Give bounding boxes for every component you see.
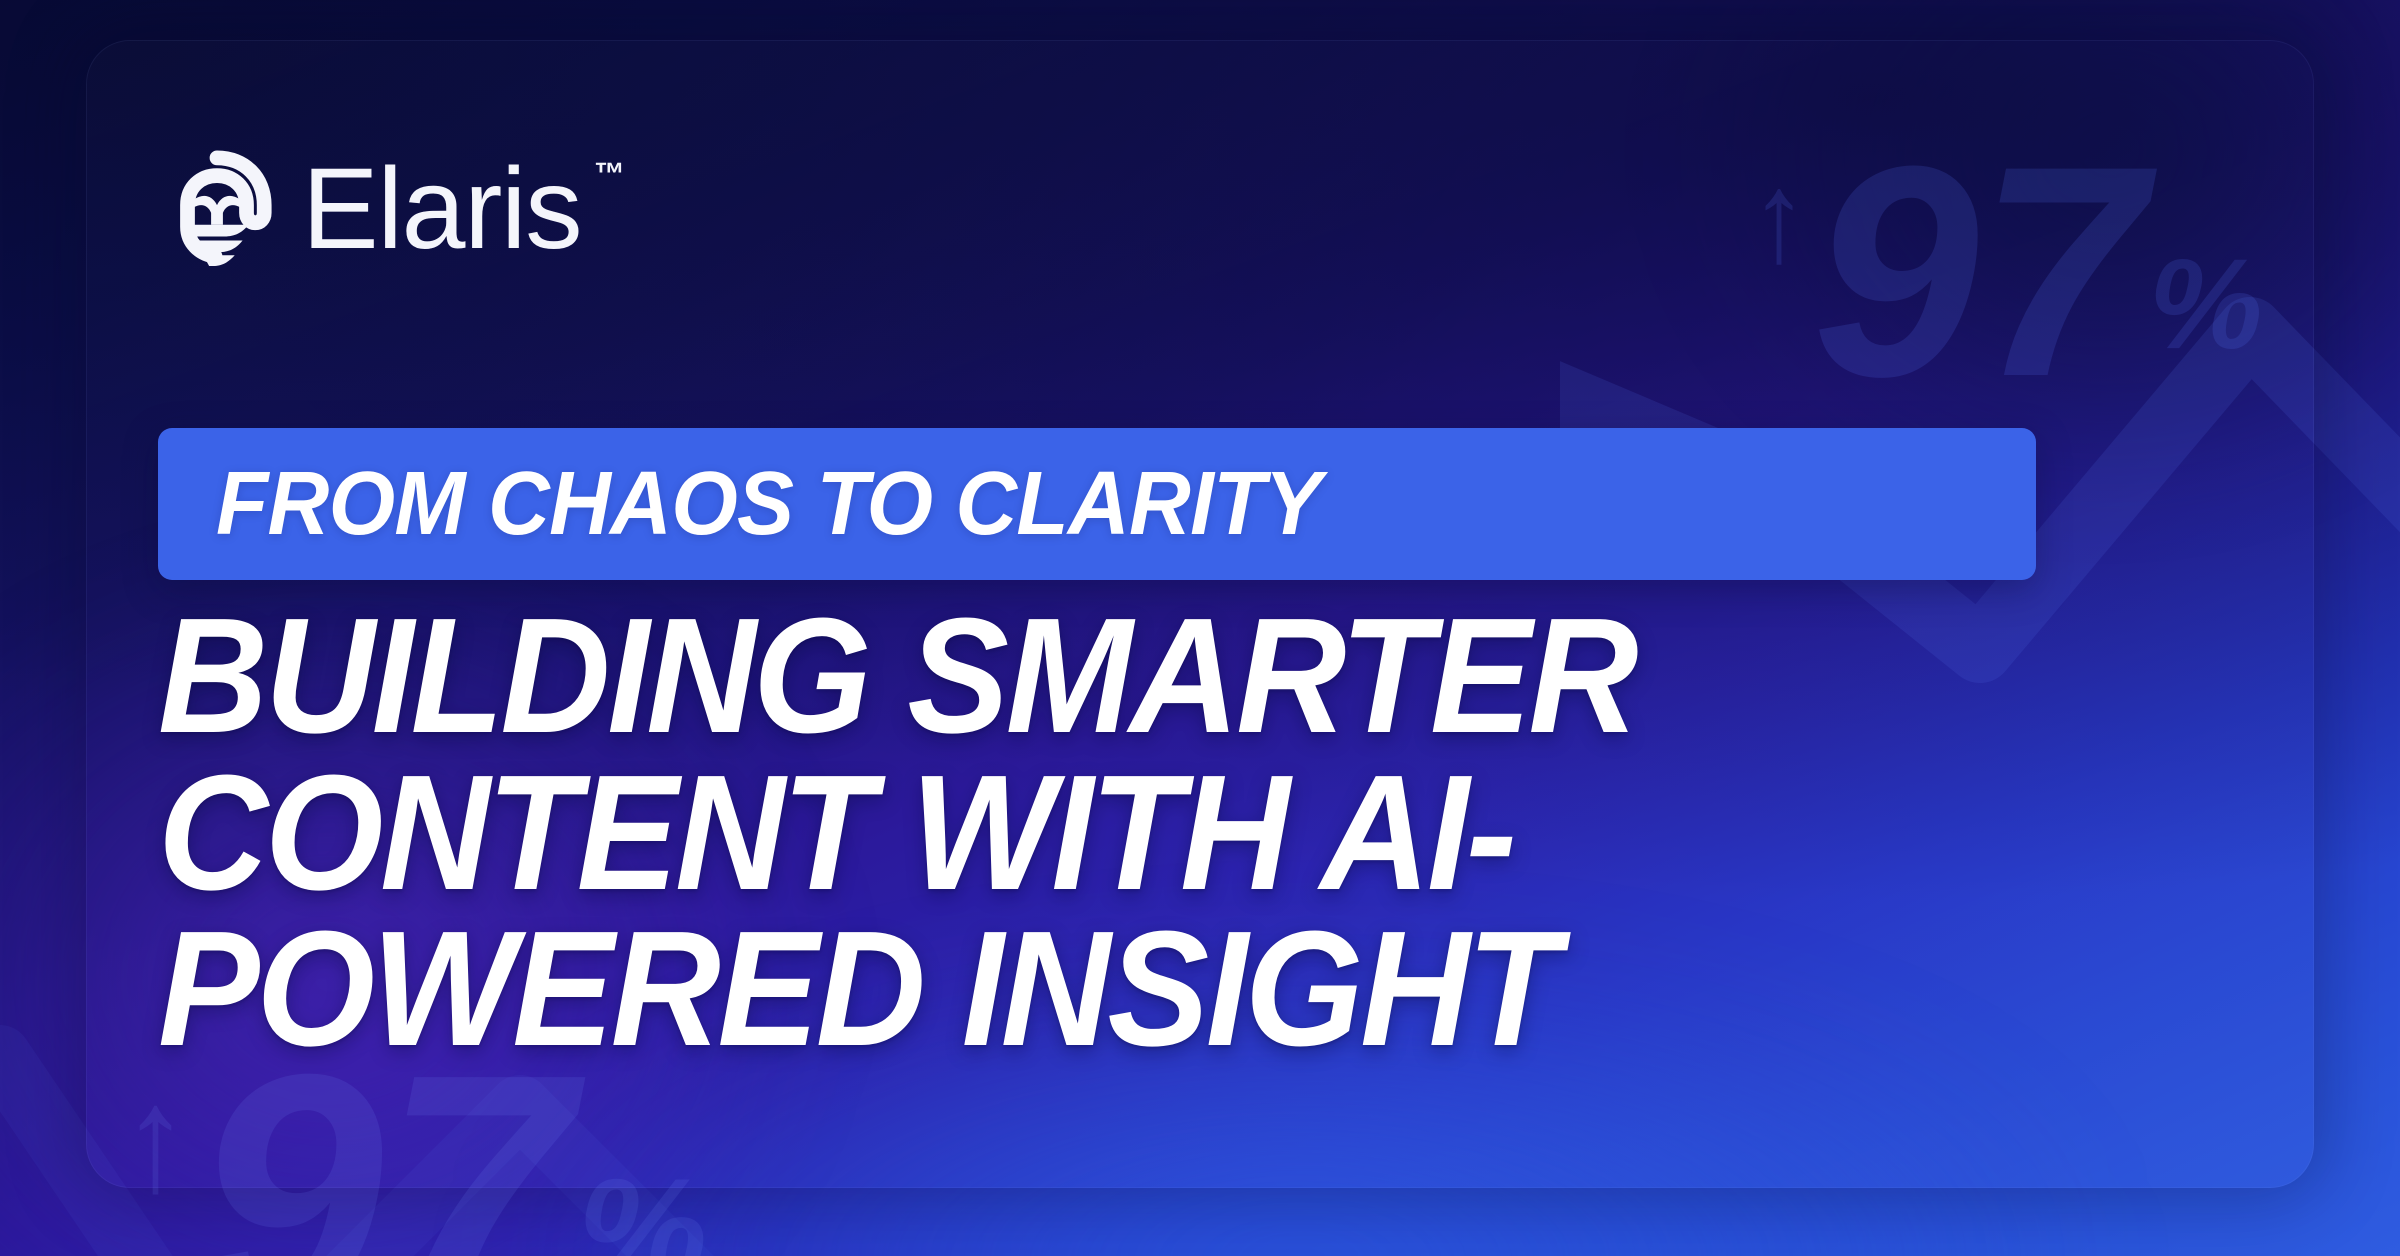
headline-line-1: BUILDING SMARTER: [158, 598, 2018, 755]
eyebrow-badge-label: FROM CHAOS TO CLARITY: [216, 459, 1321, 549]
headline-line-3: POWERED INSIGHT: [158, 911, 2018, 1068]
headline-block: BUILDING SMARTER CONTENT WITH AI- POWERE…: [158, 598, 2158, 1068]
social-card-canvas: ↑ 97 % ↑ 97 % Elaris ™ FROM CHAOS TO CLA…: [0, 0, 2400, 1256]
brand-wordmark: Elaris ™: [302, 152, 581, 267]
eyebrow-badge[interactable]: FROM CHAOS TO CLARITY: [158, 428, 2036, 580]
trademark-symbol: ™: [594, 158, 625, 189]
brand-logo-lockup[interactable]: Elaris ™: [158, 150, 581, 268]
owl-logo-icon: [158, 150, 276, 268]
headline-line-2: CONTENT WITH AI-: [158, 755, 2018, 912]
brand-name-text: Elaris: [302, 145, 581, 273]
